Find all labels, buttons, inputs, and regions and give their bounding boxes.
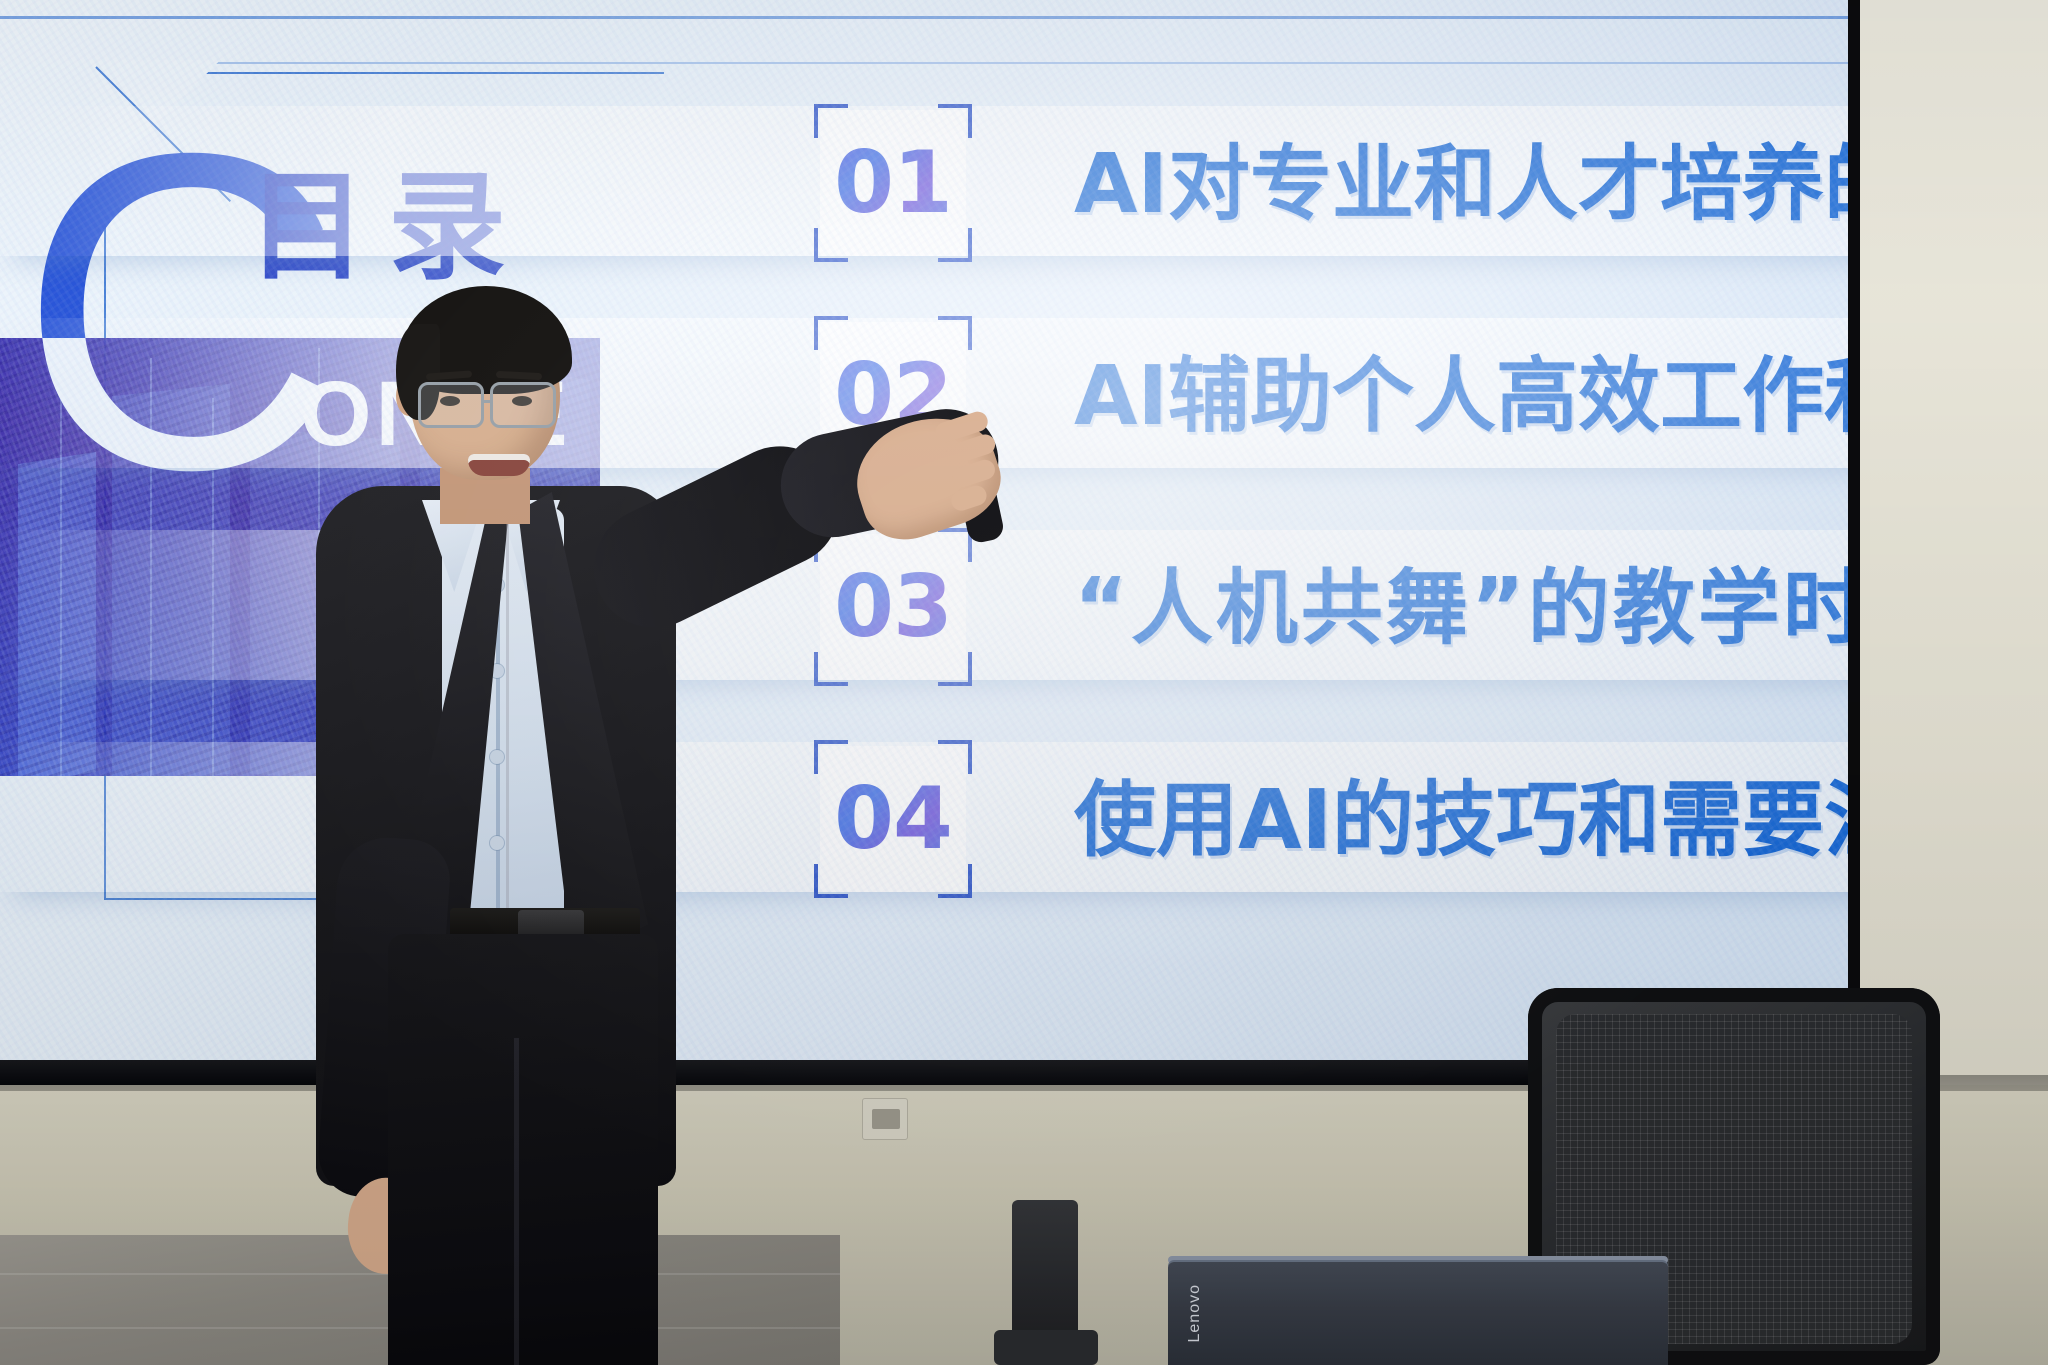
led-screen-frame: C C 目录 ONTE 01: [0, 0, 1860, 1085]
photo-scene: C C 目录 ONTE 01: [0, 0, 2048, 1365]
agenda-number-box: 01: [820, 110, 966, 256]
presenter-mouth: [468, 454, 530, 476]
agenda-label: AI辅助个人高效工作和创造: [1074, 338, 1848, 456]
agenda-label: AI对专业和人才培养的影响: [1074, 126, 1848, 244]
podium-base: [994, 1330, 1098, 1365]
trouser-seam: [514, 1038, 519, 1365]
eyeglasses-right-lens: [490, 382, 556, 428]
laptop-brand-logo: Lenovo: [1186, 1284, 1204, 1343]
shirt-button: [490, 750, 504, 764]
agenda-row[interactable]: 03 “人机共舞”的教学时代: [820, 524, 1848, 720]
agenda-row[interactable]: 04 使用AI的技巧和需要注意的问题: [820, 736, 1848, 932]
presenter-trousers: [388, 934, 658, 1365]
agenda-row[interactable]: 01 AI对专业和人才培养的影响: [820, 100, 1848, 296]
eyeglasses-bridge: [484, 400, 492, 403]
shirt-button: [490, 836, 504, 850]
agenda-label: “人机共舞”的教学时代: [1074, 550, 1848, 668]
eyeglasses-left-lens: [418, 382, 484, 428]
agenda-label: 使用AI的技巧和需要注意的问题: [1074, 762, 1848, 880]
finger: [949, 483, 989, 513]
jacket-zipper: [506, 514, 509, 944]
laptop-lid[interactable]: [1168, 1262, 1668, 1365]
agenda-number: 01: [820, 110, 966, 256]
presenter: [300, 278, 920, 1365]
